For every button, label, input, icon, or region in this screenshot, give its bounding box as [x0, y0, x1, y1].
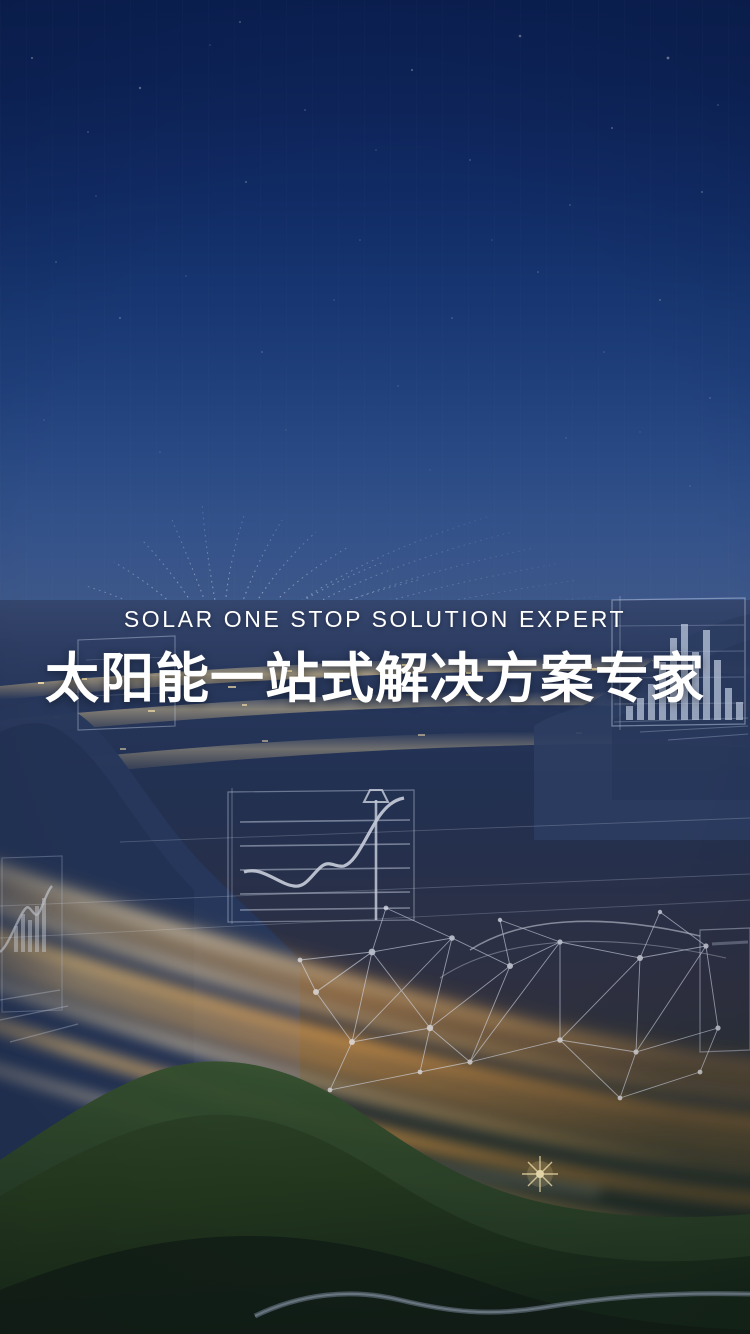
landscape-scene [0, 600, 750, 1334]
hero-headline: 太阳能一站式解决方案专家 [0, 648, 750, 710]
hero-banner: SOLAR ONE STOP SOLUTION EXPERT 太阳能一站式解决方… [0, 0, 750, 1334]
lamp-flare-icon [0, 600, 750, 1334]
hero-copy: SOLAR ONE STOP SOLUTION EXPERT 太阳能一站式解决方… [0, 602, 750, 710]
hero-eyebrow: SOLAR ONE STOP SOLUTION EXPERT [0, 602, 750, 636]
